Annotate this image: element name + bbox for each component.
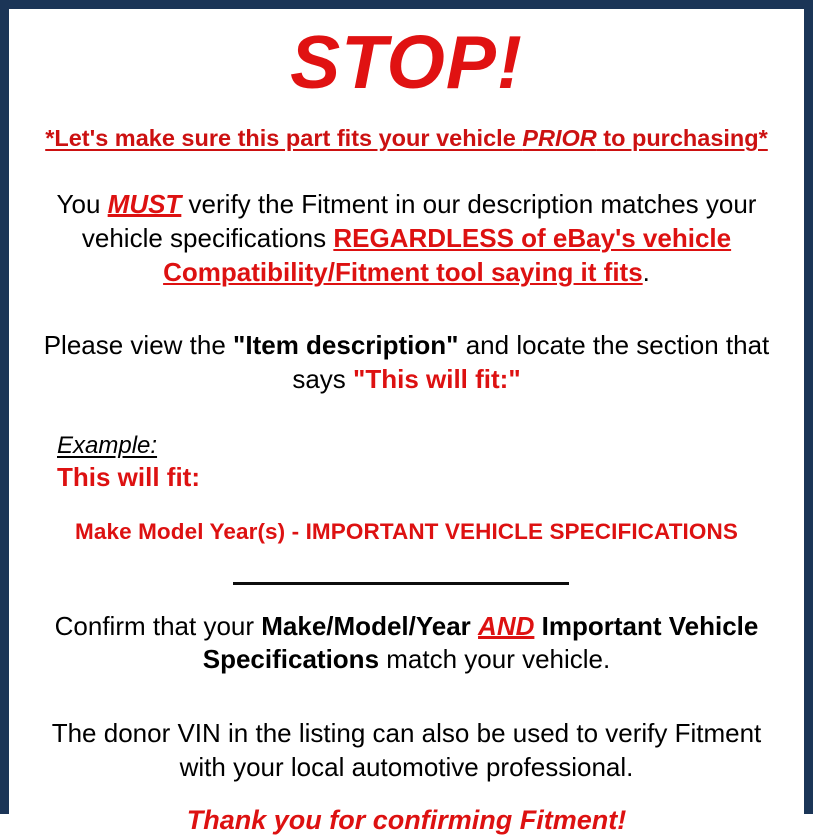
must-text-1: You — [57, 189, 108, 219]
this-will-fit-quoted-emphasis: "This will fit:" — [353, 364, 521, 394]
subtitle-text-before: *Let's make sure this part fits your veh… — [45, 125, 522, 151]
page-title: STOP! — [23, 25, 790, 100]
divider-wrapper — [23, 572, 790, 576]
item-description-emphasis: "Item description" — [233, 330, 458, 360]
section-divider — [233, 582, 569, 585]
notice-content: STOP! *Let's make sure this part fits yo… — [9, 25, 804, 821]
confirm-space-2 — [534, 611, 541, 641]
paragraph-confirm: Confirm that your Make/Model/Year AND Im… — [23, 610, 790, 678]
paragraph-donor-vin: The donor VIN in the listing can also be… — [23, 717, 790, 785]
fitment-notice-frame: STOP! *Let's make sure this part fits yo… — [0, 0, 813, 814]
confirm-text-1: Confirm that your — [55, 611, 262, 641]
confirm-text-2: match your vehicle. — [379, 644, 610, 674]
view-text-1: Please view the — [44, 330, 233, 360]
subtitle-text-after: to purchasing* — [597, 125, 768, 151]
and-emphasis: AND — [478, 611, 534, 641]
make-model-year-emphasis: Make/Model/Year — [261, 611, 471, 641]
example-block: Example: This will fit: — [23, 433, 790, 493]
example-fit-heading: This will fit: — [57, 462, 790, 493]
thanks-message: Thank you for confirming Fitment! — [23, 805, 790, 836]
must-text-3: . — [643, 257, 650, 287]
subtitle-emphasis-prior: PRIOR — [522, 125, 596, 151]
paragraph-must-verify: You MUST verify the Fitment in our descr… — [23, 188, 790, 289]
example-label: Example: — [57, 433, 157, 460]
confirm-space-1 — [471, 611, 478, 641]
subtitle-banner: *Let's make sure this part fits your veh… — [23, 125, 790, 152]
example-label-row: Example: — [57, 433, 790, 460]
must-emphasis: MUST — [108, 189, 182, 219]
example-spec-line: Make Model Year(s) - IMPORTANT VEHICLE S… — [23, 519, 790, 545]
paragraph-item-description: Please view the "Item description" and l… — [23, 329, 790, 397]
